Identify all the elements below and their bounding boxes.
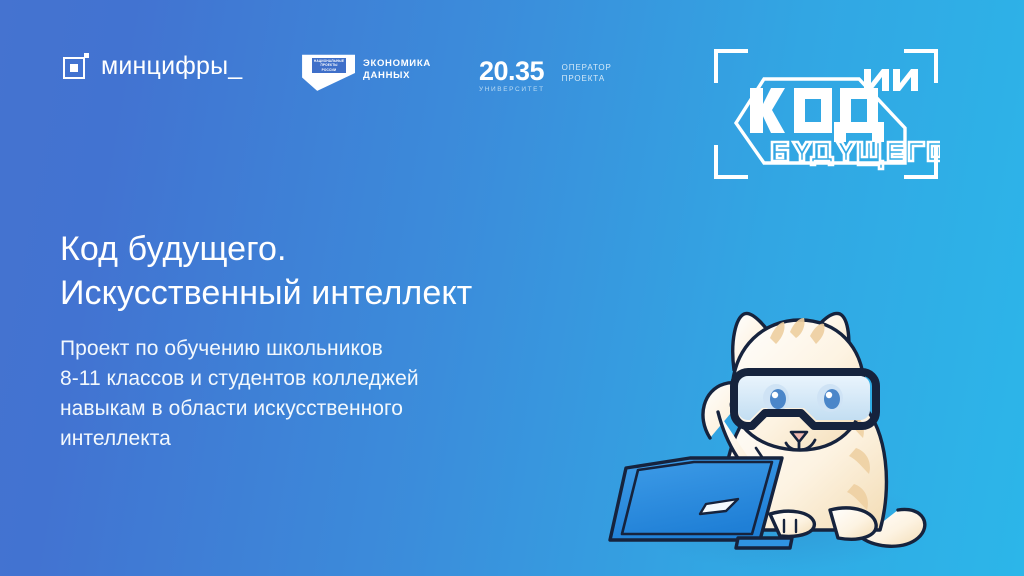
description-line-4: интеллекта [60,424,530,454]
flag-line-3: РОССИИ [322,68,337,72]
university-mark: 20.35 УНИВЕРСИТЕТ [479,58,545,95]
bracket-bottom-left [716,147,746,177]
bracket-top-left [716,51,746,81]
university-subtitle: УНИВЕРСИТЕТ [479,85,545,95]
ecodata-wordmark: ЭКОНОМИКА ДАННЫХ [363,54,431,82]
laptop-base [736,538,792,548]
description-line-1: Проект по обучению школьников [60,334,530,364]
university-2035-logo: 20.35 УНИВЕРСИТЕТ ОПЕРАТОР ПРОЕКТА [479,58,612,95]
operator-line-2: ПРОЕКТА [562,74,612,85]
operator-line-1: ОПЕРАТОР [562,63,612,74]
partner-logo-strip: минцифры_ НАЦИОНАЛЬНЫЕ ПРОЕКТЫ РОССИИ ЭК… [0,0,1024,190]
national-projects-flag-icon: НАЦИОНАЛЬНЫЕ ПРОЕКТЫ РОССИИ [301,54,355,92]
description-line-2: 8-11 классов и студентов колледжей [60,364,530,394]
mincifry-square-icon [63,53,89,79]
mincifry-logo: минцифры_ [63,53,242,79]
description-line-3: навыкам в области искусственного [60,394,530,424]
description-text: Проект по обучению школьников 8-11 класс… [60,334,530,454]
ecodata-line-2: ДАННЫХ [363,70,431,82]
mincifry-wordmark: минцифры_ [101,54,242,79]
cat-front-paw [770,511,814,536]
cat-hind-paw [830,508,876,539]
headline: Код будущего. Искусственный интеллект [60,227,590,315]
kod-budushchego-logo [712,47,940,181]
ii-badge [864,69,918,91]
headline-line-1: Код будущего. [60,227,590,271]
project-operator-label: ОПЕРАТОР ПРОЕКТА [562,58,612,84]
kod-letters [750,88,884,142]
ecodata-line-1: ЭКОНОМИКА [363,58,431,70]
ecodata-logo: НАЦИОНАЛЬНЫЕ ПРОЕКТЫ РОССИИ ЭКОНОМИКА ДА… [301,54,431,92]
laptop-lid [610,458,782,540]
promo-banner: минцифры_ НАЦИОНАЛЬНЫЕ ПРОЕКТЫ РОССИИ ЭК… [0,0,1024,576]
budushchego-letters [772,142,940,169]
university-number: 20.35 [479,58,545,85]
cat-illustration [598,252,958,576]
headline-line-2: Искусственный интеллект [60,271,590,315]
